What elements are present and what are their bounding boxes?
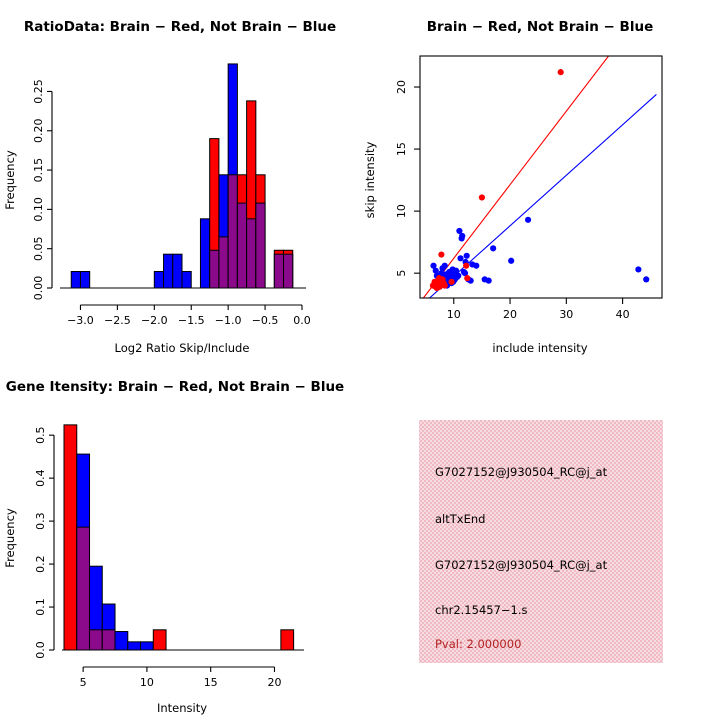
gene-histogram-xlabel: Intensity [157, 701, 207, 715]
scatter-point [457, 255, 463, 261]
histogram-bar-overlap [77, 527, 90, 650]
y-tick-label: 0.1 [34, 598, 47, 616]
histogram-bar [173, 254, 182, 288]
x-tick-label: −1.5 [178, 314, 205, 327]
histogram-bar-overlap [102, 630, 115, 650]
histogram-bar [164, 254, 173, 288]
ratio-histogram-ylabel: Frequency [3, 150, 17, 210]
info-line-coordinate: chr2.15457−1.s [435, 603, 528, 617]
scatter-point [459, 233, 465, 239]
histogram-bar-overlap [210, 250, 219, 288]
x-tick-label: 10 [447, 308, 461, 321]
info-line-probeset: G7027152@J930504_RC@j_at [435, 465, 608, 479]
histogram-bar [200, 219, 209, 288]
scatter-point [464, 253, 470, 259]
scatter-point [437, 284, 443, 290]
y-tick-label: 0.10 [32, 197, 45, 222]
panel-scatter: Brain − Red, Not Brain − Blue include in… [360, 0, 720, 360]
x-tick-label: 20 [267, 676, 281, 689]
gene-histogram-ylabel: Frequency [3, 508, 17, 568]
scatter-point [448, 279, 454, 285]
fit-line-brain-fit [423, 56, 608, 298]
histogram-bar-overlap [90, 630, 103, 650]
scatter-point [490, 245, 496, 251]
histogram-bar [128, 642, 141, 650]
info-svg: G7027152@J930504_RC@j_at altTxEnd G70271… [360, 360, 720, 720]
x-tick-label: 5 [80, 676, 87, 689]
histogram-bar-overlap [274, 254, 283, 288]
ratio-histogram-bars [71, 64, 293, 288]
scatter-point [463, 263, 469, 269]
scatter-point [438, 251, 444, 257]
histogram-bar [281, 630, 294, 650]
histogram-bar-overlap [219, 237, 228, 288]
y-tick-label: 0.3 [34, 512, 47, 530]
scatter-svg: Brain − Red, Not Brain − Blue include in… [360, 0, 720, 360]
panel-ratio-histogram: RatioData: Brain − Red, Not Brain − Blue… [0, 0, 360, 360]
y-tick-label: 20 [395, 80, 408, 94]
ratio-histogram-axes: −3.0−2.5−2.0−1.5−1.0−0.50.00.000.050.100… [32, 79, 311, 327]
scatter-point [643, 276, 649, 282]
y-tick-label: 0.00 [32, 276, 45, 301]
histogram-bar [115, 632, 128, 650]
ratio-histogram-svg: RatioData: Brain − Red, Not Brain − Blue… [0, 0, 360, 360]
x-tick-label: −1.0 [215, 314, 242, 327]
scatter-point [455, 273, 461, 279]
scatter-point [442, 263, 448, 269]
x-tick-label: 30 [559, 308, 573, 321]
x-tick-label: 40 [616, 308, 630, 321]
y-tick-label: 0.05 [32, 236, 45, 260]
scatter-points [430, 69, 649, 291]
x-tick-label: −2.5 [104, 314, 131, 327]
histogram-bar-overlap [284, 254, 293, 288]
scatter-point [635, 266, 641, 272]
x-tick-label: 0.0 [293, 314, 311, 327]
info-line-gene-id: G7027152@J930504_RC@j_at [435, 558, 608, 572]
scatter-point [464, 275, 470, 281]
x-tick-label: 10 [140, 676, 154, 689]
gene-histogram-title: Gene Itensity: Brain − Red, Not Brain − … [6, 379, 344, 395]
gene-histogram-svg: Gene Itensity: Brain − Red, Not Brain − … [0, 360, 360, 720]
y-tick-label: 0.20 [32, 119, 45, 144]
scatter-ylabel: skip intensity [363, 141, 377, 218]
scatter-point [525, 217, 531, 223]
y-tick-label: 0.0 [34, 641, 47, 659]
y-tick-label: 10 [395, 204, 408, 218]
gene-histogram-bars [64, 425, 294, 650]
histogram-bar [153, 630, 166, 650]
x-tick-label: 15 [204, 676, 218, 689]
scatter-point [508, 258, 514, 264]
histogram-bar-overlap [247, 219, 256, 288]
scatter-point [446, 270, 452, 276]
histogram-bar [182, 271, 191, 288]
scatter-title: Brain − Red, Not Brain − Blue [427, 19, 653, 35]
histogram-bar-overlap [228, 175, 237, 288]
panel-gene-histogram: Gene Itensity: Brain − Red, Not Brain − … [0, 360, 360, 720]
histogram-bar [154, 271, 163, 288]
ratio-histogram-title: RatioData: Brain − Red, Not Brain − Blue [24, 19, 336, 35]
scatter-xlabel: include intensity [492, 341, 587, 355]
info-panel-background [419, 420, 663, 663]
y-tick-label: 0.5 [34, 426, 47, 444]
y-tick-label: 15 [395, 142, 408, 156]
ratio-histogram-xlabel: Log2 Ratio Skip/Include [115, 341, 250, 355]
info-line-event-type: altTxEnd [435, 512, 485, 526]
scatter-point [473, 263, 479, 269]
y-tick-label: 0.25 [32, 79, 45, 104]
x-tick-label: 20 [503, 308, 517, 321]
plot-box [420, 56, 662, 298]
y-tick-label: 0.2 [34, 555, 47, 573]
y-tick-label: 0.15 [32, 158, 45, 183]
x-tick-label: −3.0 [67, 314, 94, 327]
y-tick-label: 0.4 [34, 469, 47, 487]
scatter-point [486, 278, 492, 284]
scatter-fit-lines [423, 56, 656, 298]
y-tick-label: 5 [395, 270, 408, 277]
histogram-bar [64, 425, 77, 650]
histogram-bar [71, 271, 80, 288]
plot-page: RatioData: Brain − Red, Not Brain − Blue… [0, 0, 720, 720]
panel-info: G7027152@J930504_RC@j_at altTxEnd G70271… [360, 360, 720, 720]
x-tick-label: −0.5 [252, 314, 279, 327]
histogram-bar-overlap [237, 203, 246, 288]
scatter-point [558, 69, 564, 75]
x-tick-label: −2.0 [141, 314, 168, 327]
histogram-bar [141, 642, 154, 650]
scatter-point [479, 194, 485, 200]
histogram-bar-overlap [256, 203, 265, 288]
histogram-bar [80, 271, 89, 288]
info-line-pval: Pval: 2.000000 [435, 637, 521, 651]
